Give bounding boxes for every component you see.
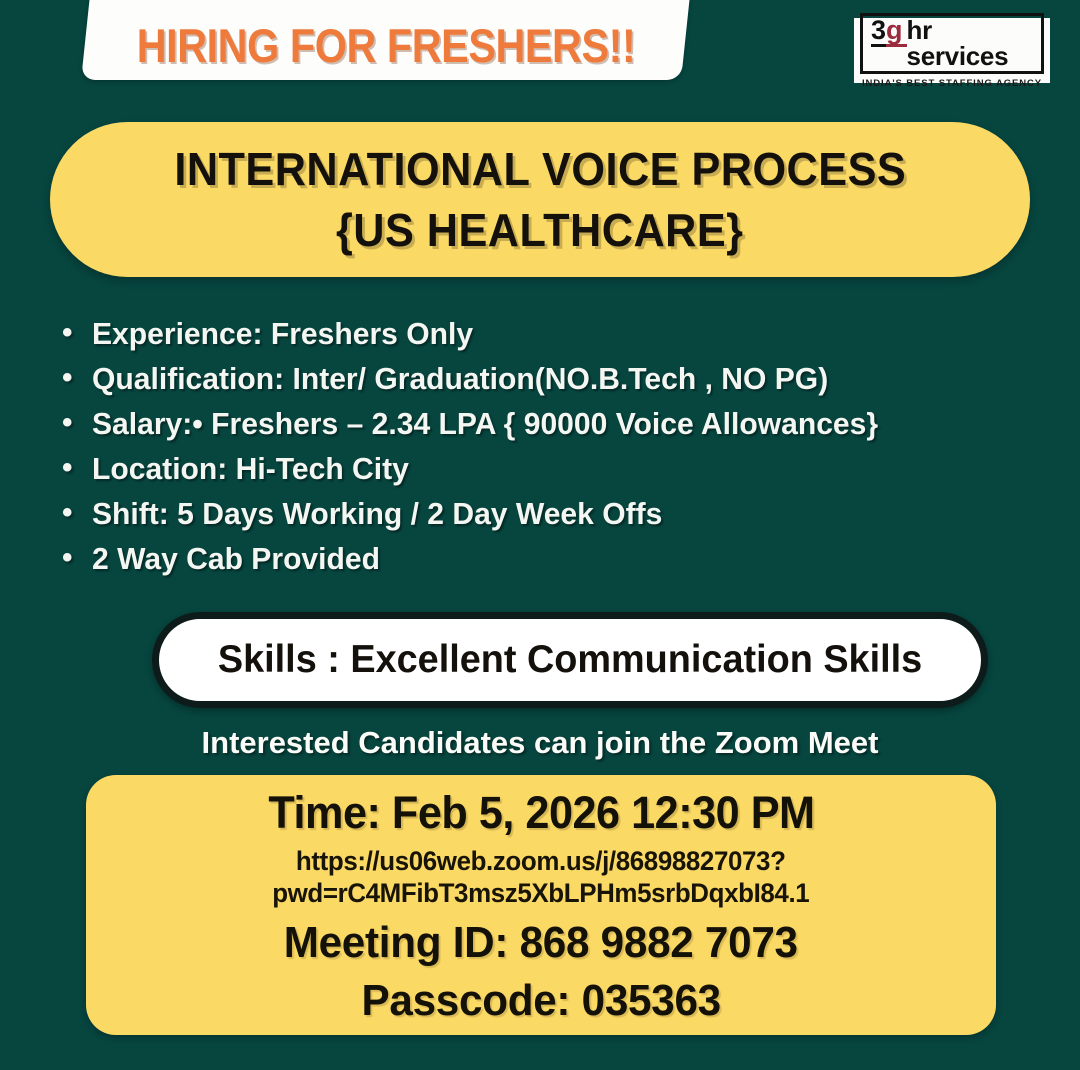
skills-pill: Skills : Excellent Communication Skills <box>152 612 988 708</box>
list-item: • 2 Way Cab Provided <box>62 543 1042 574</box>
skills-text: Skills : Excellent Communication Skills <box>218 638 922 682</box>
meeting-info-box: Time: Feb 5, 2026 12:30 PM https://us06w… <box>86 775 996 1035</box>
meeting-passcode: Passcode: 035363 <box>361 976 720 1026</box>
meeting-url-line-1: https://us06web.zoom.us/j/86898827073? <box>272 845 809 877</box>
company-logo: 3 g hr services INDIA'S BEST STAFFING AG… <box>854 18 1050 83</box>
header-banner-title: HIRING FOR FRESHERS!! <box>131 18 641 73</box>
bullet-dot-icon: • <box>62 318 92 348</box>
logo-hr-services-text: hr services <box>907 17 1033 69</box>
bullet-dot-icon: • <box>62 453 92 483</box>
bullet-dot-icon: • <box>62 543 92 573</box>
detail-location: Location: Hi-Tech City <box>92 453 409 484</box>
join-meeting-cta: Interested Candidates can join the Zoom … <box>0 725 1080 761</box>
list-item: • Experience: Freshers Only <box>62 318 1042 349</box>
job-details-list: • Experience: Freshers Only • Qualificat… <box>62 318 1042 588</box>
list-item: • Location: Hi-Tech City <box>62 453 1042 484</box>
list-item: • Shift: 5 Days Working / 2 Day Week Off… <box>62 498 1042 529</box>
meeting-time: Time: Feb 5, 2026 12:30 PM <box>268 787 814 839</box>
detail-shift: Shift: 5 Days Working / 2 Day Week Offs <box>92 498 662 529</box>
bullet-dot-icon: • <box>62 498 92 528</box>
logo-tagline: INDIA'S BEST STAFFING AGENCY <box>862 78 1042 89</box>
detail-experience: Experience: Freshers Only <box>92 318 473 349</box>
meeting-id: Meeting ID: 868 9882 7073 <box>284 918 798 968</box>
job-title-line-1: INTERNATIONAL VOICE PROCESS <box>174 143 906 196</box>
detail-salary: Salary:• Freshers – 2.34 LPA { 90000 Voi… <box>92 408 878 439</box>
meeting-url[interactable]: https://us06web.zoom.us/j/86898827073? p… <box>272 845 809 910</box>
bullet-dot-icon: • <box>62 363 92 393</box>
job-title-line-2: {US HEALTHCARE} <box>336 204 743 257</box>
list-item: • Qualification: Inter/ Graduation(NO.B.… <box>62 363 1042 394</box>
logo-letter-g: g <box>886 17 907 47</box>
meeting-url-line-2: pwd=rC4MFibT3msz5XbLPHm5srbDqxbI84.1 <box>272 877 809 909</box>
list-item: • Salary:• Freshers – 2.34 LPA { 90000 V… <box>62 408 1042 439</box>
detail-cab: 2 Way Cab Provided <box>92 543 380 574</box>
logo-wordmark: 3 g hr services <box>860 13 1044 74</box>
bullet-dot-icon: • <box>62 408 92 438</box>
logo-digit-3: 3 <box>871 17 886 47</box>
job-title-pill: INTERNATIONAL VOICE PROCESS {US HEALTHCA… <box>50 122 1030 277</box>
hiring-poster: HIRING FOR FRESHERS!! 3 g hr services IN… <box>0 0 1080 1070</box>
detail-qualification: Qualification: Inter/ Graduation(NO.B.Te… <box>92 363 828 394</box>
